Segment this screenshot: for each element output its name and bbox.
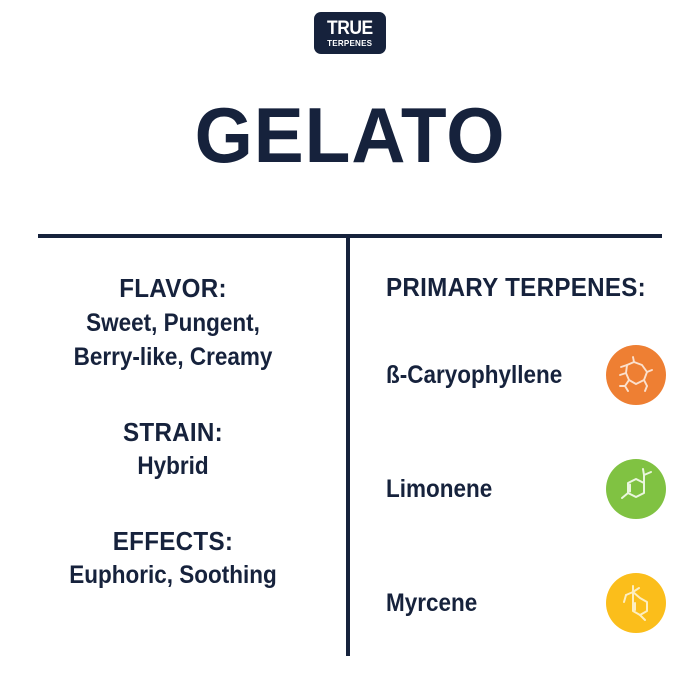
flavor-value-line-2: Berry-like, Creamy <box>17 341 328 374</box>
flavor-value-line-1: Sweet, Pungent, <box>17 307 328 340</box>
brand-logo: TRUE TERPENES <box>0 12 700 54</box>
strain-info-card: TRUE TERPENES GELATO FLAVOR: Sweet, Pung… <box>0 0 700 700</box>
flavor-block: FLAVOR: Sweet, Pungent, Berry-like, Crea… <box>0 272 346 374</box>
logo-wordmark-true: TRUE <box>327 19 373 38</box>
strain-block: STRAIN: Hybrid <box>0 416 346 483</box>
terpene-name: ß-Caryophyllene <box>386 360 584 390</box>
effects-value: Euphoric, Soothing <box>17 559 328 592</box>
terpene-name: Limonene <box>386 474 584 504</box>
terpenes-list: ß-Caryophyllene <box>350 341 700 637</box>
myrcene-molecule-icon <box>606 573 666 633</box>
strain-label: STRAIN: <box>12 416 334 449</box>
horizontal-divider <box>38 234 662 238</box>
list-item: ß-Caryophyllene <box>350 341 700 409</box>
list-item: Myrcene <box>350 569 700 637</box>
caryophyllene-molecule-icon <box>606 345 666 405</box>
logo-wordmark-terpenes: TERPENES <box>327 39 372 48</box>
attributes-column: FLAVOR: Sweet, Pungent, Berry-like, Crea… <box>0 272 346 592</box>
terpene-name: Myrcene <box>386 588 584 618</box>
limonene-molecule-icon <box>606 459 666 519</box>
page-title: GELATO <box>14 96 686 174</box>
strain-value: Hybrid <box>17 450 328 483</box>
logo-badge: TRUE TERPENES <box>314 12 386 54</box>
terpenes-column: PRIMARY TERPENES: ß-Caryophyllene <box>350 272 700 637</box>
primary-terpenes-heading: PRIMARY TERPENES: <box>386 272 678 303</box>
list-item: Limonene <box>350 455 700 523</box>
flavor-label: FLAVOR: <box>12 272 334 305</box>
effects-label: EFFECTS: <box>12 525 334 558</box>
effects-block: EFFECTS: Euphoric, Soothing <box>0 525 346 592</box>
